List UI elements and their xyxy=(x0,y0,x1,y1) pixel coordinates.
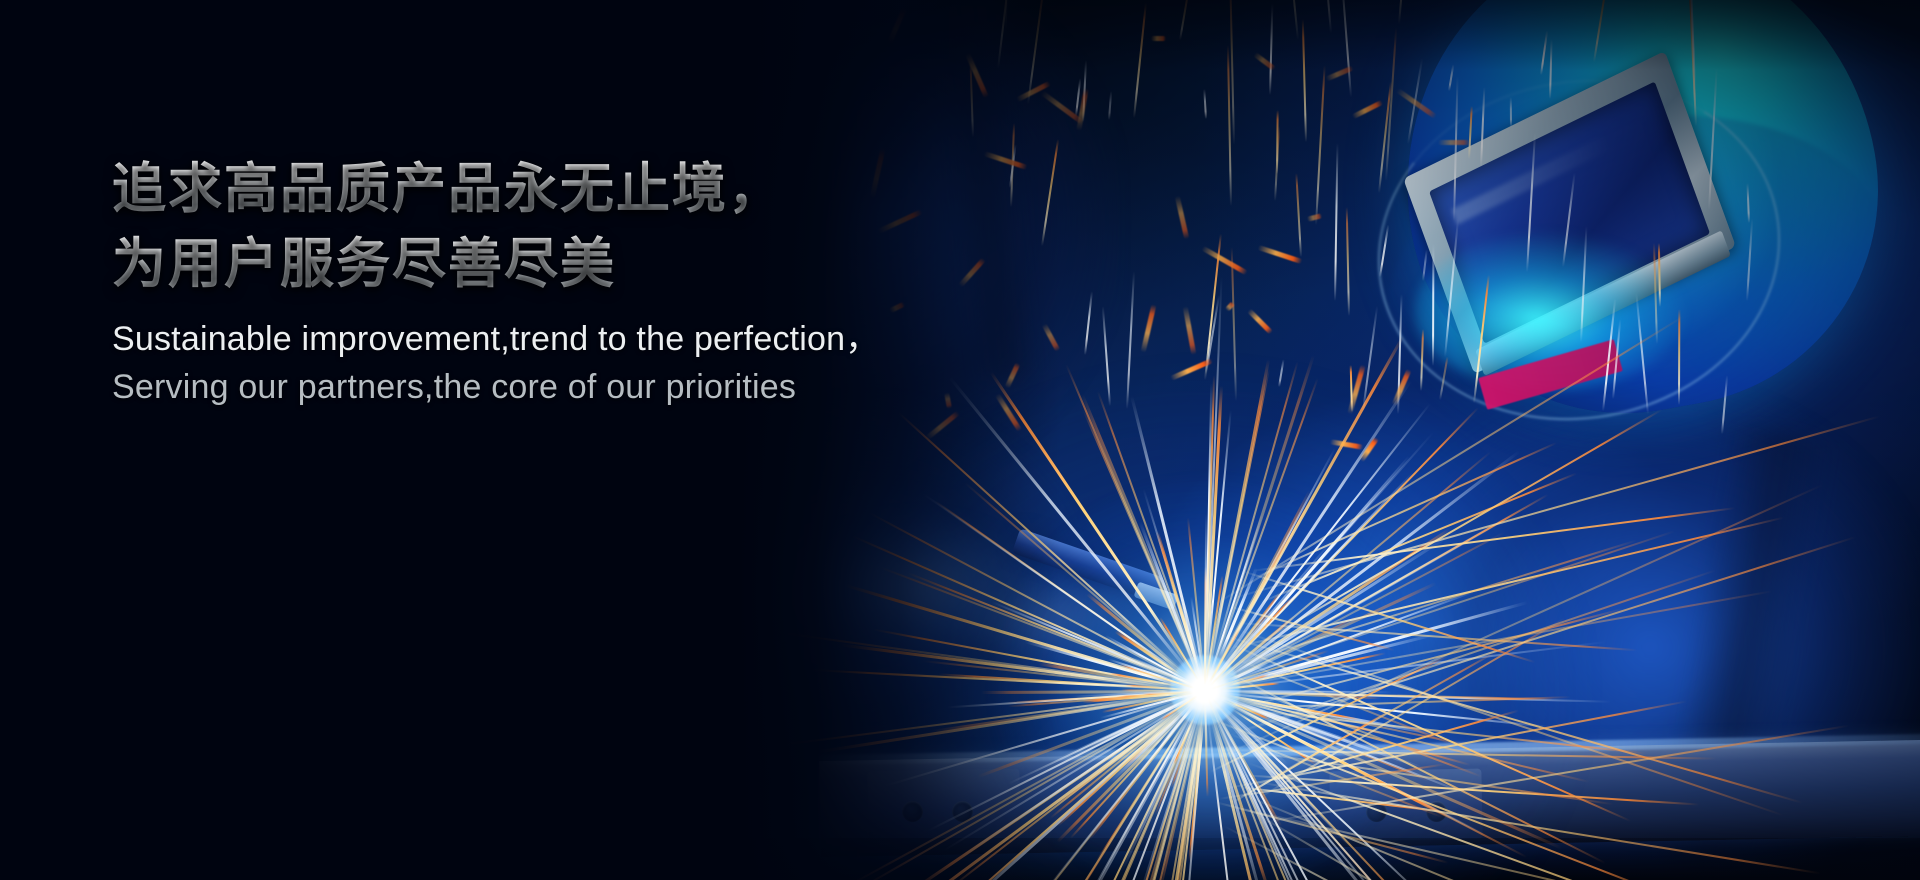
hero-banner: 追求高品质产品永无止境， 为用户服务尽善尽美 Sustainable impro… xyxy=(0,0,1920,880)
banner-copy: 追求高品质产品永无止境， 为用户服务尽善尽美 Sustainable impro… xyxy=(112,152,1172,412)
subheadline-en-line-2: Serving our partners,the core of our pri… xyxy=(112,363,1172,411)
headline-cn-line-2: 为用户服务尽善尽美 xyxy=(112,227,1172,302)
welding-photo xyxy=(640,0,1920,880)
headline-cn-line-1: 追求高品质产品永无止境， xyxy=(112,152,1172,227)
subheadline-en-line-1: Sustainable improvement,trend to the per… xyxy=(112,315,1172,363)
photo-left-fade xyxy=(640,0,1060,880)
